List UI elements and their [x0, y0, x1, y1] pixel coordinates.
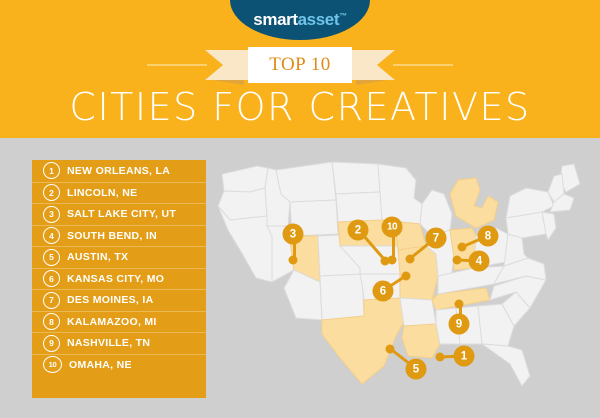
logo-text: smartasset™: [253, 10, 346, 40]
map-states: [218, 162, 580, 386]
map-marker-10[interactable]: 10: [382, 217, 403, 238]
state-sd: [336, 192, 382, 222]
page-title: CITIES FOR CREATIVES: [0, 85, 600, 129]
list-item[interactable]: 1 NEW ORLEANS, LA: [32, 160, 206, 182]
state-mo: [398, 246, 438, 300]
ribbon-rule-left: [147, 64, 207, 66]
city-label: AUSTIN, TX: [67, 251, 128, 263]
city-label: KANSAS CITY, MO: [67, 273, 164, 285]
map-marker-1[interactable]: 1: [454, 346, 475, 367]
rank-badge: 2: [43, 184, 60, 201]
city-label: SALT LAKE CITY, UT: [67, 208, 176, 220]
state-mi: [450, 178, 498, 228]
rank-badge: 4: [43, 227, 60, 244]
list-item[interactable]: 5 AUSTIN, TX: [32, 246, 206, 268]
city-label: NEW ORLEANS, LA: [67, 165, 170, 177]
map-marker-4[interactable]: 4: [469, 251, 490, 272]
rank-badge: 8: [43, 313, 60, 330]
logo-trademark-icon: ™: [339, 11, 347, 20]
list-item[interactable]: 9 NASHVILLE, TN: [32, 332, 206, 354]
map-marker-2[interactable]: 2: [348, 220, 369, 241]
rank-badge: 7: [43, 292, 60, 309]
state-fl: [482, 344, 530, 386]
map-marker-5[interactable]: 5: [406, 359, 427, 380]
infographic-root: smartasset™ TOP 10 CITIES FOR CREATIVES …: [0, 0, 600, 418]
map-marker-9[interactable]: 9: [449, 314, 470, 335]
map-marker-7[interactable]: 7: [426, 228, 447, 249]
logo-asset-text: asset: [298, 10, 339, 29]
rank-badge: 1: [43, 162, 60, 179]
rank-badge: 9: [43, 335, 60, 352]
ribbon-center-panel: TOP 10: [248, 47, 352, 83]
ribbon-rule-right: [393, 64, 453, 66]
rank-badge: 5: [43, 249, 60, 266]
usa-map: [210, 158, 595, 408]
state-la: [402, 324, 440, 358]
map-marker-8[interactable]: 8: [478, 226, 499, 247]
map-marker-6[interactable]: 6: [373, 281, 394, 302]
list-item[interactable]: 10 OMAHA, NE: [32, 354, 206, 376]
map-marker-3[interactable]: 3: [283, 224, 304, 245]
logo-smart-text: smart: [253, 10, 297, 29]
city-label: KALAMAZOO, MI: [67, 316, 157, 328]
list-item[interactable]: 7 DES MOINES, IA: [32, 289, 206, 311]
rank-badge: 6: [43, 270, 60, 287]
city-label: OMAHA, NE: [69, 359, 132, 371]
list-item[interactable]: 3 SALT LAKE CITY, UT: [32, 203, 206, 225]
list-item[interactable]: 6 KANSAS CITY, MO: [32, 268, 206, 290]
city-label: SOUTH BEND, IN: [67, 230, 157, 242]
city-label: DES MOINES, IA: [67, 294, 153, 306]
state-nj-de-md: [542, 212, 556, 240]
top-ribbon: TOP 10: [0, 47, 600, 83]
ribbon-label: TOP 10: [269, 54, 331, 76]
city-label: LINCOLN, NE: [67, 187, 137, 199]
city-label: NASHVILLE, TN: [67, 337, 150, 349]
header-banner: smartasset™ TOP 10 CITIES FOR CREATIVES: [0, 0, 600, 138]
state-mn: [378, 164, 422, 224]
state-mt: [276, 162, 336, 202]
state-ar: [400, 298, 436, 326]
state-nd: [332, 162, 380, 194]
rank-badge: 3: [43, 206, 60, 223]
list-item[interactable]: 8 KALAMAZOO, MI: [32, 311, 206, 333]
list-item[interactable]: 4 SOUTH BEND, IN: [32, 225, 206, 247]
state-wa: [222, 166, 268, 192]
usa-map-svg: [210, 158, 595, 408]
smartasset-logo[interactable]: smartasset™: [230, 0, 370, 40]
top-ten-list: 1 NEW ORLEANS, LA 2 LINCOLN, NE 3 SALT L…: [32, 160, 206, 398]
state-nm: [320, 274, 364, 320]
list-item[interactable]: 2 LINCOLN, NE: [32, 182, 206, 204]
rank-badge: 10: [43, 356, 62, 373]
